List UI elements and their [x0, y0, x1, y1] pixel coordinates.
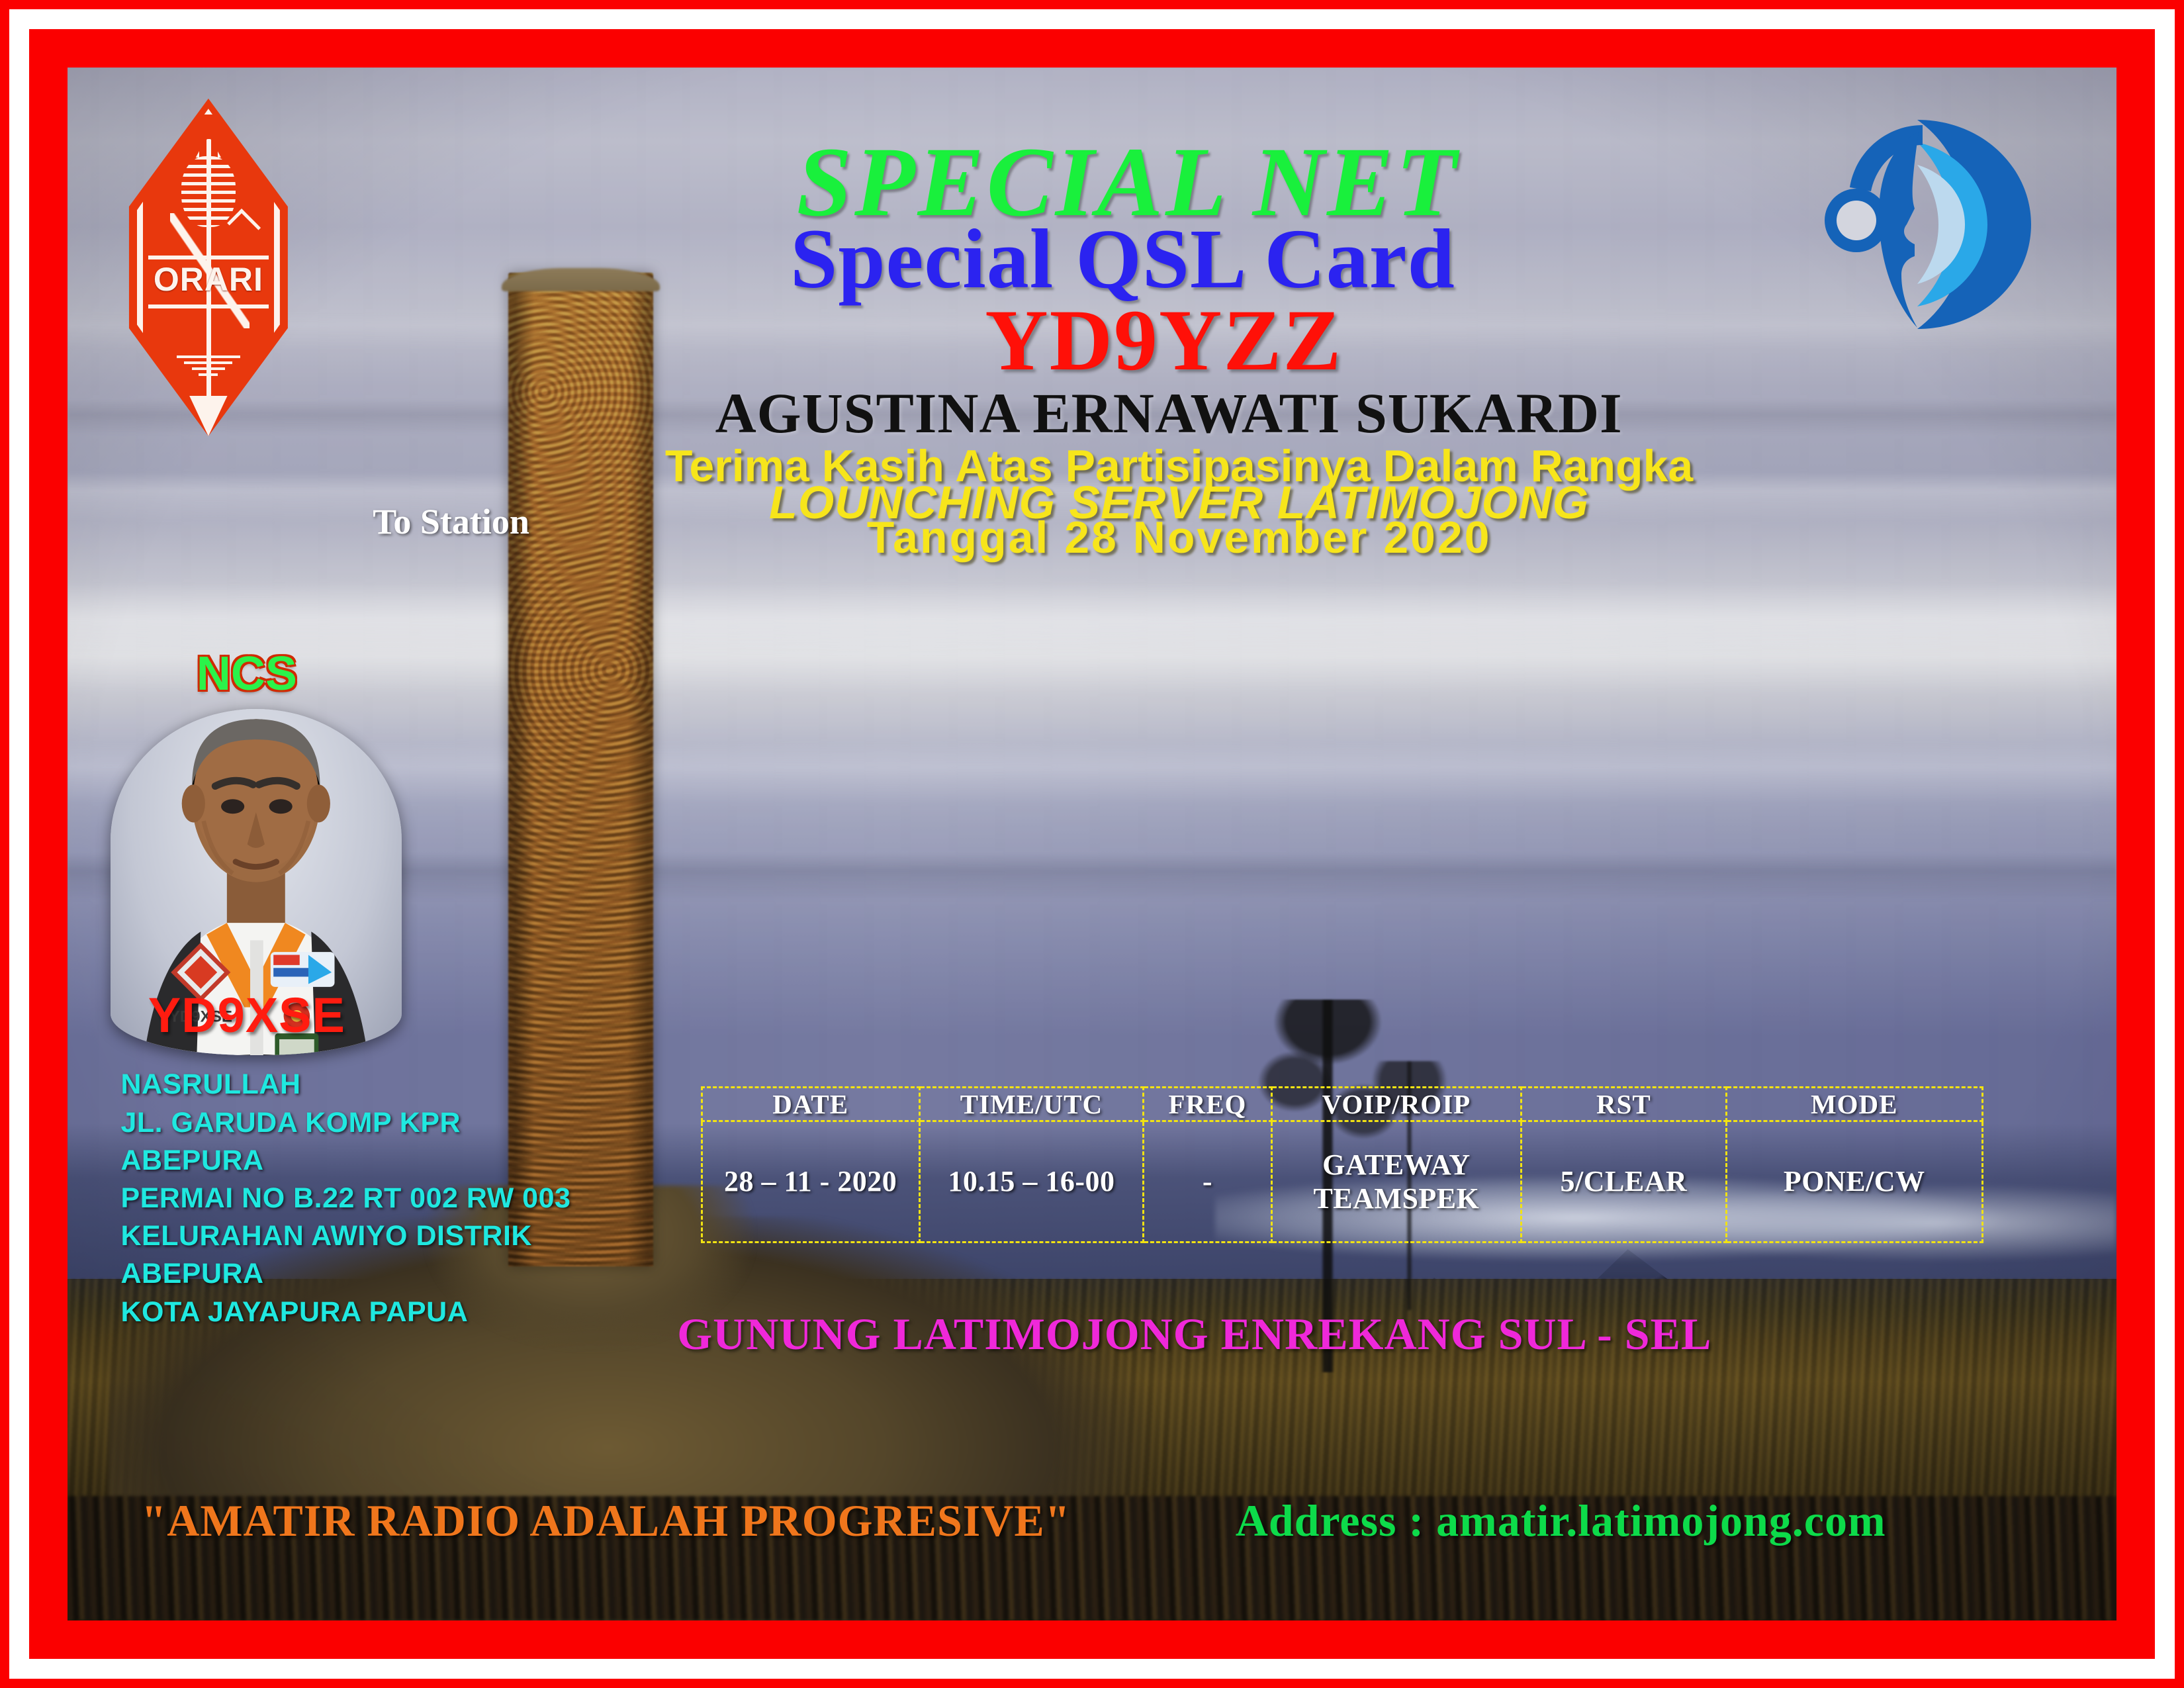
- cell-voip-line-2: TEAMSPEK: [1275, 1182, 1518, 1215]
- ncs-callsign: YD9XSE: [68, 987, 426, 1043]
- column-header-rst: RST: [1522, 1087, 1727, 1121]
- cell-voip: GATEWAY TEAMSPEK: [1271, 1121, 1521, 1242]
- footer-motto: "AMATIR RADIO ADALAH PROGRESIVE": [141, 1495, 1070, 1547]
- address-line: ABEPURA: [120, 1255, 570, 1293]
- qso-log-table: DATE TIME/UTC FREQ VOIP/ROIP RST MODE 28…: [701, 1086, 1983, 1243]
- cell-time: 10.15 – 16-00: [919, 1121, 1144, 1242]
- cell-freq: -: [1144, 1121, 1272, 1242]
- address-line: KELURAHAN AWIYO DISTRIK: [120, 1217, 570, 1255]
- station-callsign: YD9YZZ: [68, 289, 2116, 391]
- column-header-time: TIME/UTC: [919, 1087, 1144, 1121]
- mailing-address-block: NASRULLAH JL. GARUDA KOMP KPR ABEPURA PE…: [120, 1066, 570, 1331]
- qsl-card-white-border: ORARI: [9, 9, 2175, 1679]
- table-row: 28 – 11 - 2020 10.15 – 16-00 - GATEWAY T…: [702, 1121, 1982, 1242]
- column-header-voip: VOIP/ROIP: [1271, 1087, 1521, 1121]
- thanks-line-3: Tanggal 28 November 2020: [68, 512, 2116, 563]
- location-line: GUNUNG LATIMOJONG ENREKANG SUL - SEL: [68, 1308, 2116, 1360]
- cell-voip-line-1: GATEWAY: [1275, 1148, 1518, 1182]
- address-line: JL. GARUDA KOMP KPR: [120, 1104, 570, 1142]
- address-line: NASRULLAH: [120, 1066, 570, 1103]
- column-header-mode: MODE: [1726, 1087, 1982, 1121]
- address-line: ABEPURA: [120, 1142, 570, 1180]
- column-header-freq: FREQ: [1144, 1087, 1272, 1121]
- ncs-label: NCS: [68, 647, 426, 701]
- column-header-date: DATE: [702, 1087, 919, 1121]
- address-line: PERMAI NO B.22 RT 002 RW 003: [120, 1180, 570, 1217]
- cell-date: 28 – 11 - 2020: [702, 1121, 919, 1242]
- operator-name: AGUSTINA ERNAWATI SUKARDI: [68, 380, 2116, 446]
- footer-web-address: Address : amatir.latimojong.com: [1236, 1495, 1886, 1547]
- cell-mode: PONE/CW: [1726, 1121, 1982, 1242]
- qsl-card-outer-border: ORARI: [0, 0, 2184, 1688]
- qsl-card-inner-border: ORARI: [29, 29, 2155, 1659]
- table-header-row: DATE TIME/UTC FREQ VOIP/ROIP RST MODE: [702, 1087, 1982, 1121]
- cell-rst: 5/CLEAR: [1522, 1121, 1727, 1242]
- qsl-card-artwork: ORARI: [68, 68, 2116, 1620]
